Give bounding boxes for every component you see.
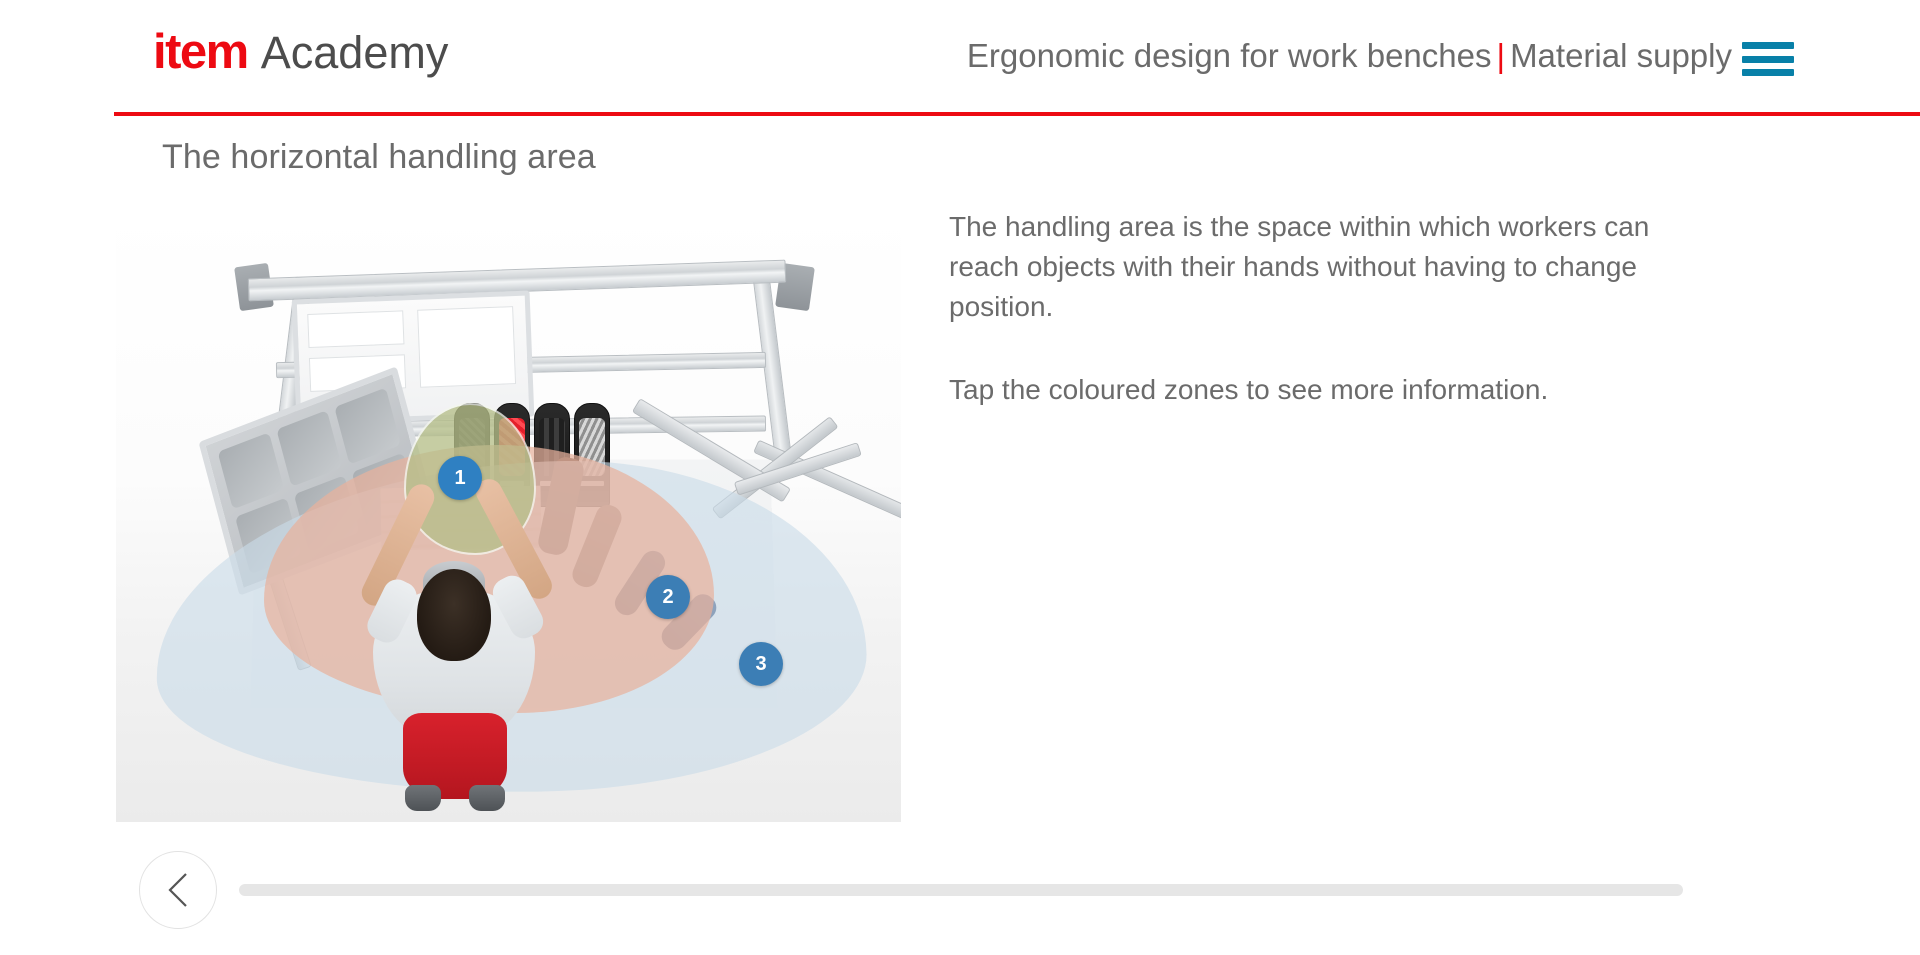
hotspot-marker-1[interactable]: 1	[438, 456, 482, 500]
hamburger-bar-3	[1742, 69, 1794, 76]
body-paragraph-1: The handling area is the space within wh…	[949, 207, 1669, 326]
body-paragraph-2: Tap the coloured zones to see more infor…	[949, 370, 1669, 410]
header-divider	[114, 112, 1920, 116]
worker-figure	[359, 517, 549, 807]
worker-head	[417, 569, 491, 661]
illustration-panel[interactable]: 1 2 3	[116, 207, 901, 822]
document-sheet-3	[417, 306, 516, 388]
previous-slide-button[interactable]	[139, 851, 217, 929]
brand-logo[interactable]: item Academy	[153, 28, 448, 77]
app-root: item Academy Ergonomic design for work b…	[0, 0, 1920, 955]
tray-cavity	[335, 388, 401, 465]
chevron-left-icon	[167, 872, 189, 908]
hamburger-menu-icon[interactable]	[1742, 42, 1794, 76]
course-title: Ergonomic design for work benches|Materi…	[967, 36, 1732, 76]
tray-cavity	[218, 432, 284, 509]
progress-bar[interactable]	[239, 884, 1683, 896]
page-title: The horizontal handling area	[162, 138, 596, 177]
course-title-section: Material supply	[1510, 37, 1732, 74]
hotspot-marker-3[interactable]: 3	[739, 642, 783, 686]
worker-shoe-left	[405, 785, 441, 811]
tray-cavity	[276, 410, 342, 487]
brand-logo-academy: Academy	[261, 30, 449, 75]
brand-logo-item: item	[153, 28, 248, 77]
document-sheet-1	[307, 310, 404, 348]
body-text-column: The handling area is the space within wh…	[949, 207, 1669, 410]
course-title-main: Ergonomic design for work benches	[967, 37, 1492, 74]
hamburger-bar-2	[1742, 56, 1794, 63]
workbench-scene: 1 2 3	[116, 207, 901, 822]
page-header: item Academy Ergonomic design for work b…	[0, 0, 1920, 118]
hamburger-bar-1	[1742, 42, 1794, 49]
worker-shoe-right	[469, 785, 505, 811]
course-title-separator: |	[1496, 37, 1505, 74]
hotspot-marker-2[interactable]: 2	[646, 575, 690, 619]
